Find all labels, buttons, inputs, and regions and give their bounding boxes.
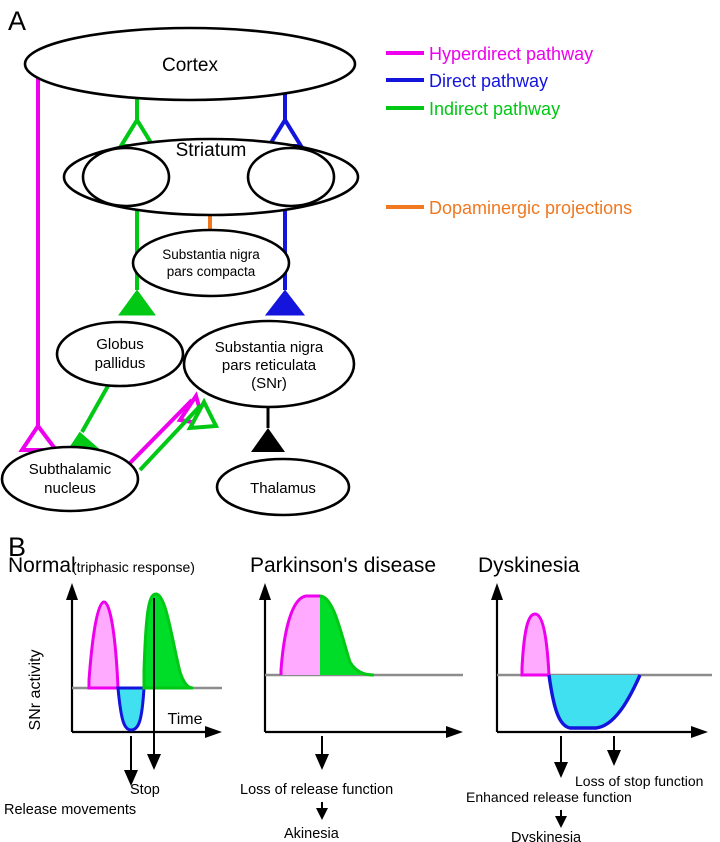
plot-normal-y-arrowhead <box>66 583 78 600</box>
plot-normal-annot-release-text: Release movements <box>4 802 136 818</box>
basal-ganglia-circuit: Cortex Striatum Substantia nigra pars co… <box>0 0 720 530</box>
plot-dyskinesia-phase-early-excitation <box>522 614 549 675</box>
figure-root: A B <box>0 0 720 842</box>
legend-item-hyperdirect: Hyperdirect pathway <box>386 44 593 64</box>
legend-item-dopaminergic: Dopaminergic projections <box>386 198 632 218</box>
node-label-stn-line1: Subthalamic <box>29 461 112 478</box>
plot-parkinsons-annot-akinesia-text: Akinesia <box>284 826 340 842</box>
node-label-stn-line2: nucleus <box>44 480 96 497</box>
striatum-inner-left <box>83 148 169 206</box>
striatum-inner-right <box>248 148 334 206</box>
hyperdirect-pathway-line <box>22 76 56 450</box>
node-label-cortex: Cortex <box>162 55 218 76</box>
plot-dyskinesia: Dyskinesia Enhanced release function Los… <box>466 554 712 842</box>
plot-normal-title: Normal <box>8 554 76 577</box>
legend-label-indirect: Indirect pathway <box>429 99 560 119</box>
plot-parkinsons-annot-loss-text: Loss of release function <box>240 782 393 798</box>
node-label-snr-line1: Substantia nigra <box>215 339 324 356</box>
plot-normal-annot-stop-text: Stop <box>130 782 160 798</box>
node-thalamus: Thalamus <box>217 459 349 515</box>
node-subthalamic-nucleus: Subthalamic nucleus <box>2 447 138 511</box>
plot-normal-phase-inhibition <box>118 688 144 730</box>
plot-dyskinesia-annotation-dyskinesia: Dyskinesia <box>511 810 582 842</box>
plot-dyskinesia-annot-loss-stop-text: Loss of stop function <box>575 773 703 789</box>
plot-parkinsons-phase-early-fill <box>281 596 320 675</box>
snr-activity-plots: Normal (triphasic response) SNr activity… <box>0 530 720 842</box>
plot-dyskinesia-x-arrowhead <box>691 726 708 738</box>
plot-dyskinesia-annot-enhanced-text: Enhanced release function <box>466 789 632 805</box>
plot-normal-annotation-release: Release movements <box>4 736 138 818</box>
plot-normal-phase-late-excitation <box>144 594 193 688</box>
plot-parkinsons: Parkinson's disease Loss of release func… <box>240 554 463 842</box>
legend-item-indirect: Indirect pathway <box>386 99 560 119</box>
plot-parkinsons-x-arrowhead <box>446 726 463 738</box>
legend-label-dopaminergic: Dopaminergic projections <box>429 198 632 218</box>
plot-normal-phase-early-excitation <box>89 602 118 688</box>
plot-dyskinesia-annot-dyskinesia-text: Dyskinesia <box>511 830 582 842</box>
plot-parkinsons-annotation-loss: Loss of release function <box>240 736 393 798</box>
plot-normal-x-label: Time <box>168 711 203 728</box>
indirect-pathway-gp-stn <box>68 377 113 452</box>
plot-normal-x-arrowhead <box>205 726 222 738</box>
node-label-snr-line2: pars reticulata <box>222 357 317 374</box>
plot-parkinsons-title: Parkinson's disease <box>250 554 436 577</box>
legend-item-direct: Direct pathway <box>386 71 548 91</box>
node-label-snc-line1: Substantia nigra <box>162 247 260 262</box>
node-label-snc-line2: pars compacta <box>167 264 256 279</box>
plot-dyskinesia-title: Dyskinesia <box>478 554 580 577</box>
node-substantia-nigra-pars-reticulata: Substantia nigra pars reticulata (SNr) <box>184 321 354 407</box>
plot-normal-y-label: SNr activity <box>27 650 44 731</box>
plot-parkinsons-y-arrowhead <box>259 583 271 600</box>
legend: Hyperdirect pathway Direct pathway Indir… <box>386 44 632 218</box>
plot-normal: Normal (triphasic response) SNr activity… <box>4 554 222 818</box>
plot-dyskinesia-annotation-loss-stop: Loss of stop function <box>575 736 703 789</box>
plot-dyskinesia-annotation-enhanced: Enhanced release function <box>466 736 632 805</box>
node-label-gp-line2: pallidus <box>95 355 146 372</box>
plot-parkinsons-annotation-akinesia: Akinesia <box>284 802 340 842</box>
node-label-gp-line1: Globus <box>96 336 144 353</box>
node-label-striatum: Striatum <box>176 140 247 161</box>
legend-label-hyperdirect: Hyperdirect pathway <box>429 44 593 64</box>
legend-label-direct: Direct pathway <box>429 71 548 91</box>
plot-dyskinesia-y-arrowhead <box>491 583 503 600</box>
node-substantia-nigra-pars-compacta: Substantia nigra pars compacta <box>133 230 289 296</box>
plot-normal-subtitle: (triphasic response) <box>72 559 195 575</box>
node-globus-pallidus: Globus pallidus <box>57 322 183 386</box>
node-striatum: Striatum <box>64 139 358 215</box>
node-cortex: Cortex <box>25 28 355 100</box>
node-label-thalamus: Thalamus <box>250 480 316 497</box>
plot-parkinsons-phase-late-fill <box>320 596 374 675</box>
node-label-snr-line3: (SNr) <box>251 375 287 392</box>
